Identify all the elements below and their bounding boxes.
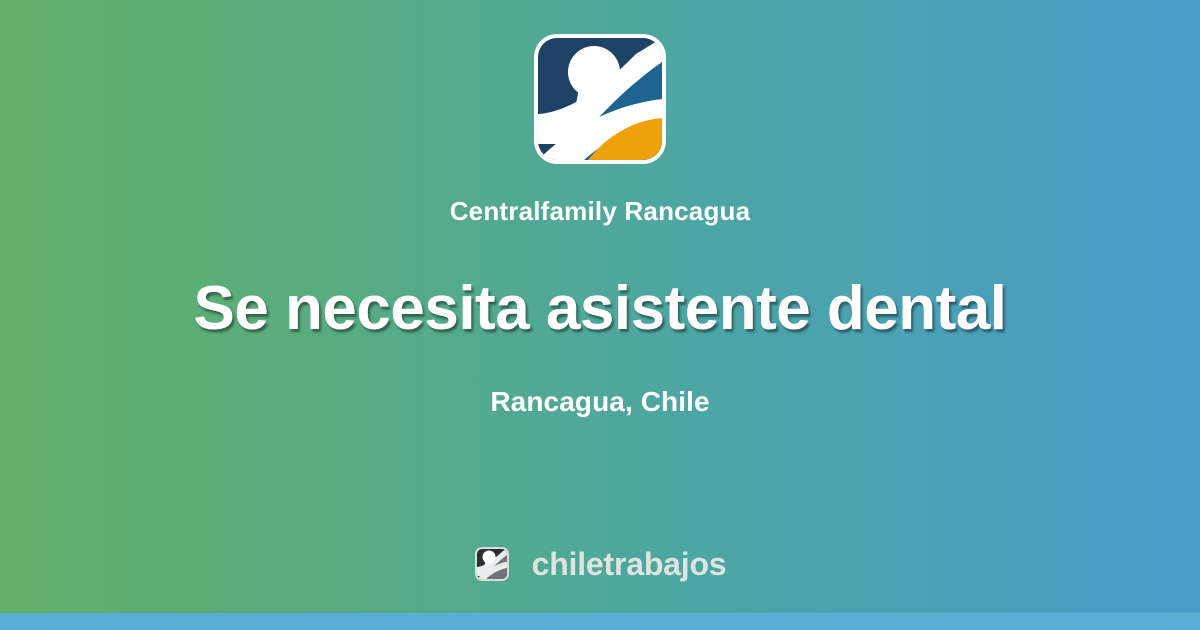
job-location: Rancagua, Chile bbox=[490, 385, 709, 419]
chiletrabajos-app-logo-icon bbox=[532, 32, 668, 166]
brand-name: chiletrabajos bbox=[532, 548, 727, 580]
brand-footer: chiletrabajos bbox=[0, 546, 1200, 582]
chiletrabajos-mark-icon bbox=[474, 546, 510, 582]
company-name: Centralfamily Rancagua bbox=[450, 196, 751, 227]
bottom-accent-strip bbox=[0, 613, 1200, 630]
company-logo bbox=[532, 32, 668, 166]
job-share-card: Centralfamily Rancagua Se necesita asist… bbox=[0, 0, 1200, 630]
job-title: Se necesita asistente dental bbox=[153, 276, 1046, 341]
